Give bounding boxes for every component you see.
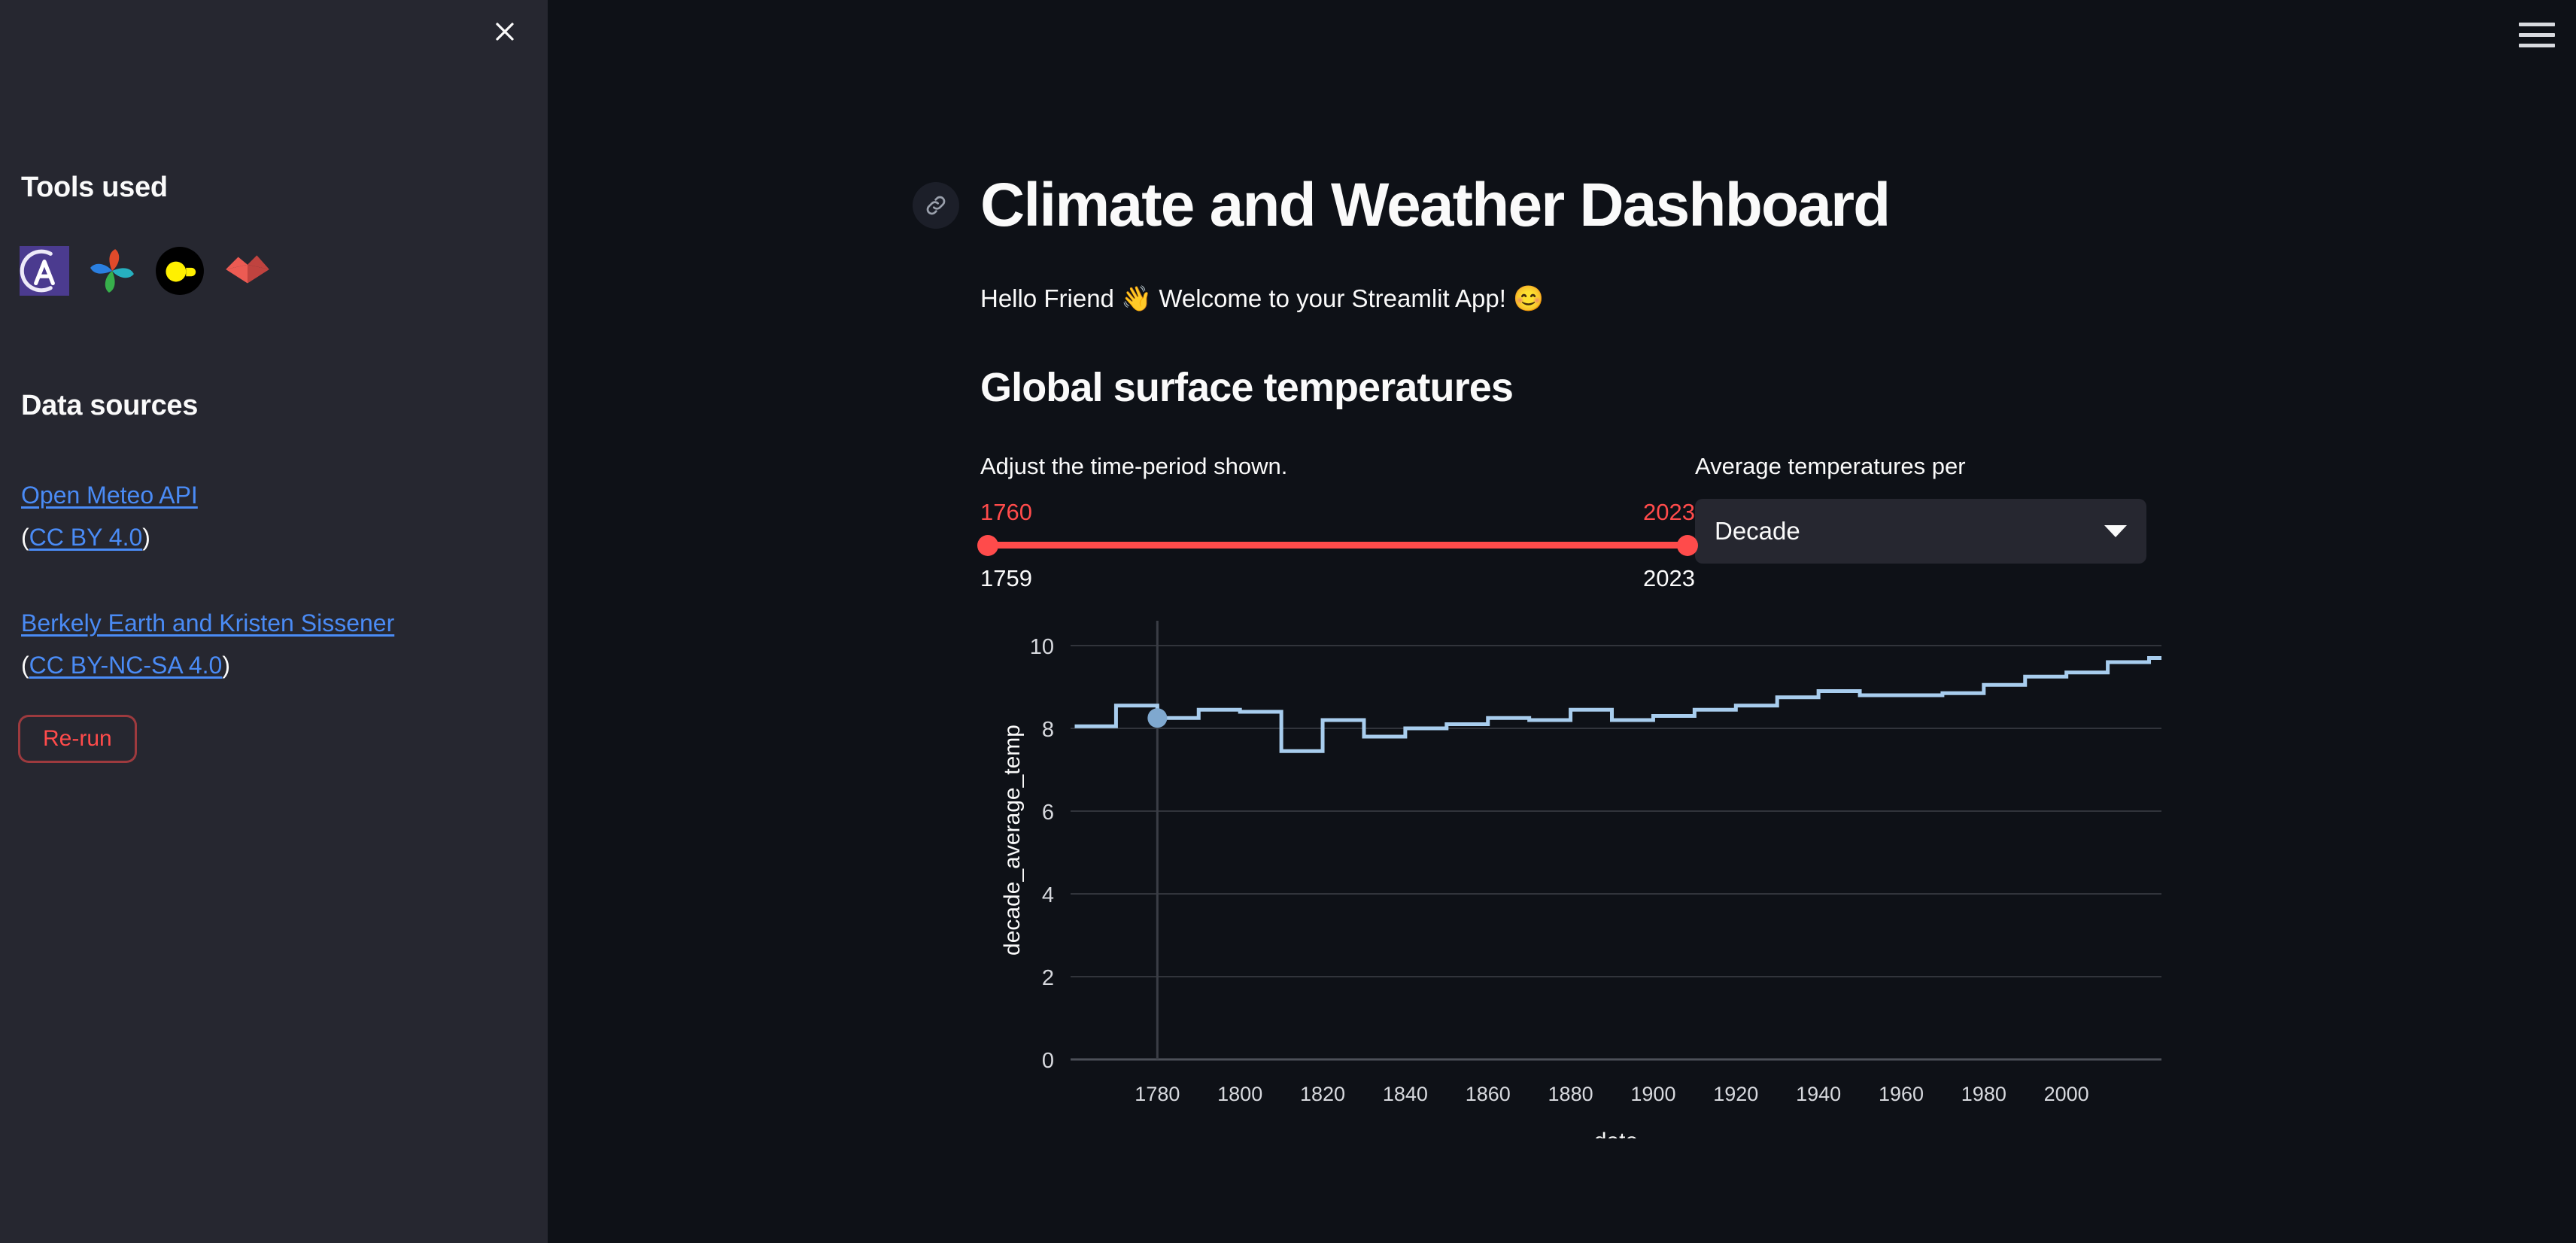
x-tick-label: 1800 [1217,1083,1262,1105]
data-source-berkeley-earth: Berkely Earth and Kristen Sissener (CC B… [21,602,394,686]
tools-used-heading: Tools used [21,172,168,204]
average-per-select[interactable]: Decade [1695,499,2146,564]
y-tick-label: 8 [1042,718,1054,742]
x-tick-label: 2000 [2044,1083,2089,1105]
hamburger-menu-icon[interactable] [2519,17,2555,53]
paren-open: ( [21,524,29,551]
hover-point-marker[interactable] [1147,708,1167,728]
apache-airflow-logo [87,246,137,296]
slider-label: Adjust the time-period shown. [980,450,1695,482]
controls-row: Adjust the time-period shown. 1760 2023 … [980,450,2177,582]
slider-track[interactable] [980,542,1695,549]
paren-open: ( [21,652,29,679]
slider-thumb-max[interactable] [1677,535,1698,556]
select-label: Average temperatures per [1695,450,2146,482]
duckdb-logo [155,246,205,296]
slider-thumb-min[interactable] [977,535,998,556]
x-tick-label: 1840 [1383,1083,1428,1105]
rerun-button[interactable]: Re-run [18,715,137,763]
cc-by-40-link[interactable]: CC BY 4.0 [29,524,143,551]
sidebar-close-button[interactable] [485,12,524,51]
hamburger-bar [2519,44,2555,47]
time-period-slider[interactable]: 1760 2023 1759 2023 [980,499,1695,582]
data-source-open-meteo: Open Meteo API (CC BY 4.0) [21,474,198,558]
greeting-text: Hello Friend 👋 Welcome to your Streamlit… [980,280,2177,318]
section-heading: Global surface temperatures [980,364,2177,411]
paren-close: ) [142,524,150,551]
x-tick-label: 1940 [1796,1083,1841,1105]
altair-logo [20,246,69,296]
source-link-line: Open Meteo API [21,474,198,516]
slider-selected-values: 1760 2023 [980,499,1695,529]
y-tick-label: 6 [1042,801,1054,825]
open-meteo-api-link[interactable]: Open Meteo API [21,482,198,509]
y-tick-label: 2 [1042,966,1054,990]
main-content: Climate and Weather Dashboard Hello Frie… [548,0,2576,1243]
y-tick-label: 4 [1042,883,1054,907]
temperature-step-chart[interactable]: 0246810178018001820184018601880190019201… [980,612,2177,1138]
cc-by-nc-sa-40-link[interactable]: CC BY-NC-SA 4.0 [29,652,223,679]
temperature-line [1074,658,2161,751]
x-axis-title: date [1594,1129,1638,1138]
slider-bound-max: 2023 [1643,565,1695,592]
y-tick-label: 0 [1042,1049,1054,1073]
x-tick-label: 1780 [1135,1083,1180,1105]
slider-track-area[interactable] [980,532,1695,558]
title-row: Climate and Weather Dashboard [980,173,2177,238]
sidebar: Tools used Data sources [0,0,548,1243]
streamlit-logo [223,246,272,296]
time-period-slider-group: Adjust the time-period shown. 1760 2023 … [980,450,1695,582]
slider-bound-min: 1759 [980,565,1032,592]
x-tick-label: 1960 [1879,1083,1924,1105]
select-selected-value: Decade [1715,517,2104,546]
y-axis-title: decade_average_temp [1000,725,1025,956]
slider-value-max: 2023 [1643,499,1695,529]
berkeley-earth-link[interactable]: Berkely Earth and Kristen Sissener [21,609,394,637]
tools-logo-row [20,246,272,296]
slider-bounds: 1759 2023 [980,565,1695,592]
page-title: Climate and Weather Dashboard [980,173,1889,238]
hamburger-bar [2519,23,2555,26]
link-icon[interactable] [913,182,959,229]
average-per-select-group: Average temperatures per Decade [1695,450,2146,582]
x-tick-label: 1980 [1961,1083,2006,1105]
close-icon [494,20,516,43]
hamburger-bar [2519,33,2555,37]
data-sources-heading: Data sources [21,390,198,422]
x-tick-label: 1820 [1300,1083,1345,1105]
source-license-line: (CC BY-NC-SA 4.0) [21,644,394,686]
chain-link-glyph [923,193,949,218]
x-tick-label: 1900 [1630,1083,1675,1105]
paren-close: ) [222,652,230,679]
chart-svg: 0246810178018001820184018601880190019201… [980,612,2177,1138]
y-tick-label: 10 [1030,635,1054,659]
slider-value-min: 1760 [980,499,1032,529]
source-license-line: (CC BY 4.0) [21,516,198,558]
chevron-down-icon [2104,525,2127,537]
x-tick-label: 1880 [1548,1083,1593,1105]
source-link-line: Berkely Earth and Kristen Sissener [21,602,394,644]
x-tick-label: 1860 [1466,1083,1511,1105]
x-tick-label: 1920 [1713,1083,1758,1105]
content-column: Climate and Weather Dashboard Hello Frie… [980,0,2177,1138]
